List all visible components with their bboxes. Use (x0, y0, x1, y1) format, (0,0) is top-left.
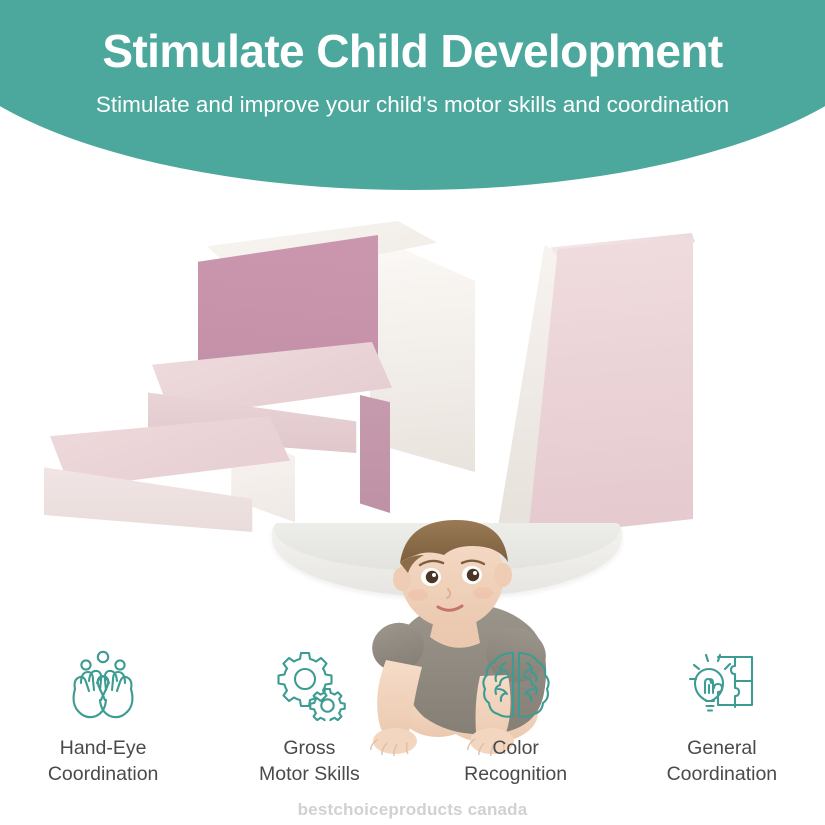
lightbulb-puzzle-icon (684, 645, 760, 721)
feature-item-color-recognition: Color Recognition (413, 645, 619, 788)
brain-icon (478, 645, 554, 721)
page-subtitle: Stimulate and improve your child's motor… (96, 89, 729, 122)
stair-top-mauve-edge (360, 395, 390, 513)
page-title: Stimulate Child Development (102, 28, 722, 74)
product-infographic-page: Stimulate Child Development Stimulate an… (0, 0, 825, 825)
feature-item-hand-eye-coordination: Hand-Eye Coordination (0, 645, 206, 788)
product-scene (0, 185, 825, 630)
feature-label: General Coordination (667, 735, 778, 788)
feature-list: Hand-Eye Coordination Gross Motor Skills (0, 645, 825, 825)
feature-item-gross-motor-skills: Gross Motor Skills (206, 645, 412, 788)
feature-label: Gross Motor Skills (259, 735, 360, 788)
header-banner-content: Stimulate Child Development Stimulate an… (0, 0, 825, 190)
feature-item-general-coordination: General Coordination (619, 645, 825, 788)
gears-icon (271, 645, 347, 721)
clapping-hands-icon (65, 645, 141, 721)
feature-label: Color Recognition (464, 735, 567, 788)
header-banner: Stimulate Child Development Stimulate an… (0, 0, 825, 190)
feature-label: Hand-Eye Coordination (48, 735, 159, 788)
